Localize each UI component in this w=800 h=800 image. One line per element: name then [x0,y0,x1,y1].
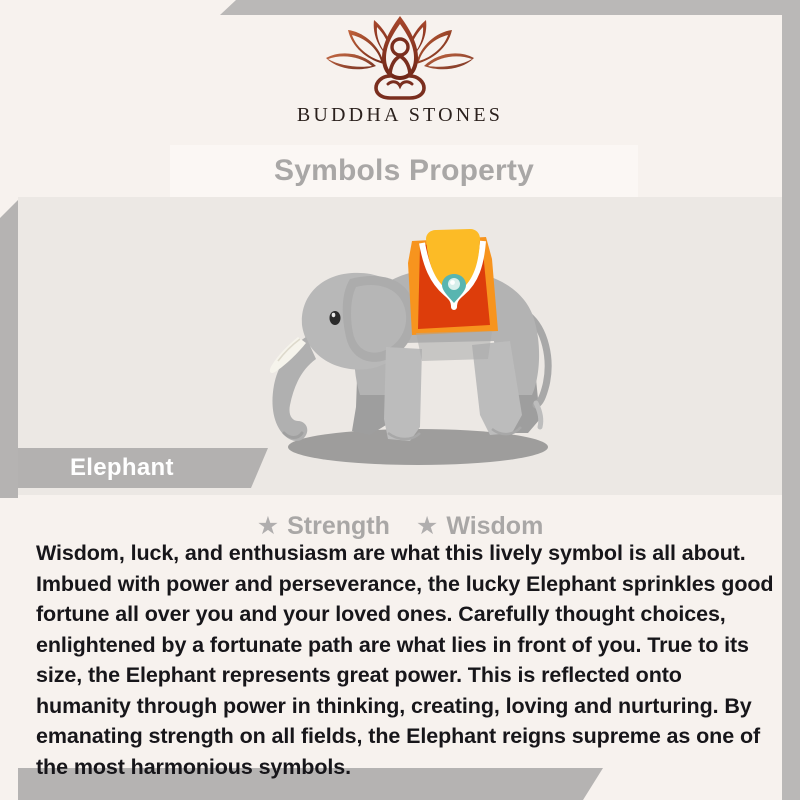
trait-label: Strength [287,512,390,541]
ribbon-banner: Elephant [18,448,268,488]
elephant-illustration [240,219,580,487]
star-icon: ★ [416,514,438,539]
star-icon: ★ [257,514,279,539]
traits-row: ★ Strength ★ Wisdom [0,512,800,541]
title-band: Symbols Property [170,145,638,197]
trait-strength: ★ Strength [257,512,390,541]
brand-name: BUDDHA STONES [297,104,503,127]
decor-bar-left [0,200,18,498]
lotus-meditation-figure-icon [320,14,480,100]
page-title: Symbols Property [274,156,534,186]
brand-logo: BUDDHA STONES [0,14,800,127]
trait-label: Wisdom [446,512,543,541]
page-root: BUDDHA STONES Symbols Property [0,0,800,800]
ribbon-label: Elephant [70,454,174,482]
header: BUDDHA STONES [0,0,800,145]
trait-wisdom: ★ Wisdom [416,512,543,541]
description-text: Wisdom, luck, and enthusiasm are what th… [36,538,778,782]
